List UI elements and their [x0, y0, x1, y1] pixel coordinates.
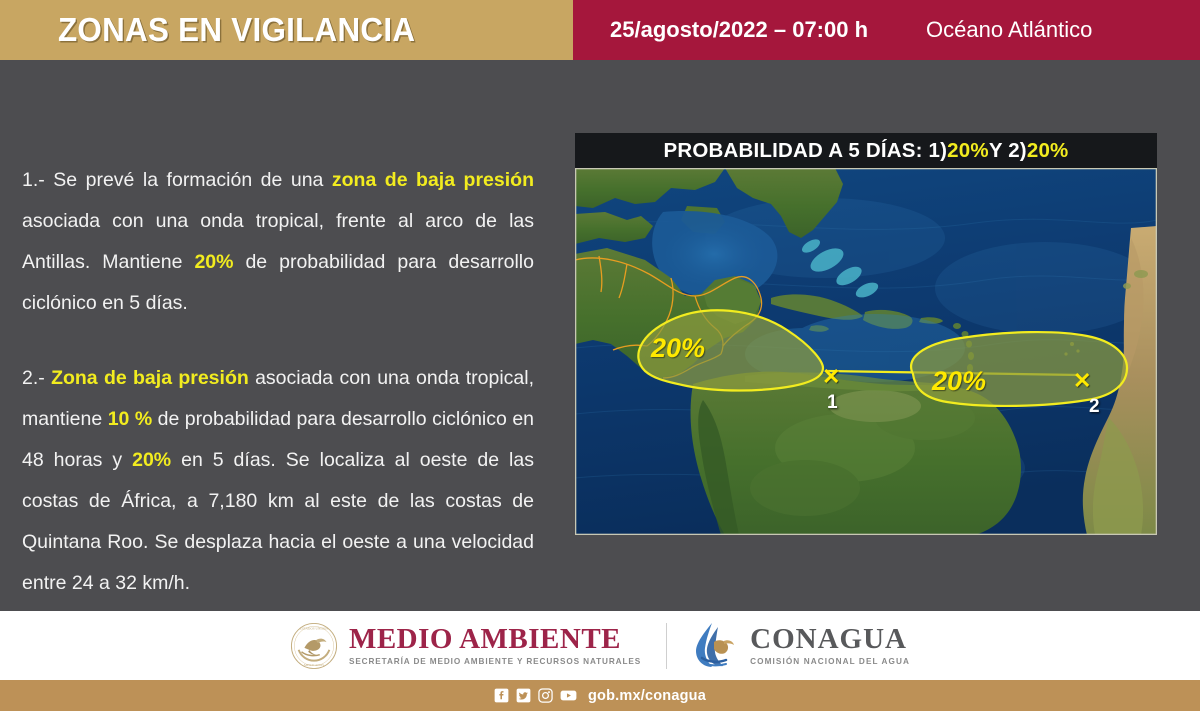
semarnat-text: MEDIO AMBIENTE SECRETARÍA DE MEDIO AMBIE…	[349, 625, 641, 666]
logo-row: ESTADOS UNIDOS MEXICANOS MEDIO AMBIENTE …	[290, 621, 910, 671]
header-info-band: 25/agosto/2022 – 07:00 h Océano Atlántic…	[573, 0, 1200, 60]
header-title-band: ZONAS EN VIGILANCIA	[0, 0, 573, 60]
page-title: ZONAS EN VIGILANCIA	[58, 11, 415, 49]
caption-prefix: PROBABILIDAD A 5 DÍAS: 1)	[664, 139, 948, 163]
conagua-subtitle: COMISIÓN NACIONAL DEL AGUA	[750, 657, 910, 666]
zone-1-number: 1	[827, 392, 838, 414]
semarnat-title: MEDIO AMBIENTE	[349, 625, 641, 655]
page-header: ZONAS EN VIGILANCIA 25/agosto/2022 – 07:…	[0, 0, 1200, 60]
satellite-basemap	[575, 168, 1157, 535]
item-2-probability-48h: 10 %	[108, 408, 153, 430]
conagua-water-drop-icon	[692, 621, 738, 671]
gobmx-url-label[interactable]: gob.mx/conagua	[588, 688, 706, 704]
report-timestamp: 25/agosto/2022 – 07:00 h	[610, 17, 868, 43]
conagua-logo: CONAGUA COMISIÓN NACIONAL DEL AGUA	[692, 621, 910, 671]
youtube-icon[interactable]	[560, 688, 577, 703]
footer-logo-band: ESTADOS UNIDOS MEXICANOS MEDIO AMBIENTE …	[0, 611, 1200, 680]
item-2-highlight-phrase: Zona de baja presión	[45, 367, 249, 389]
item-2-probability-5d: 20%	[132, 449, 171, 471]
zone-2-number: 2	[1089, 396, 1100, 418]
semarnat-logo: ESTADOS UNIDOS MEXICANOS MEDIO AMBIENTE …	[290, 622, 641, 670]
facebook-icon[interactable]	[494, 688, 509, 703]
forecast-zone-2-shape	[911, 332, 1127, 406]
item-1-number: 1.-	[22, 169, 45, 191]
item-1-text-a: Se prevé la formación de una	[45, 169, 332, 191]
report-item-2: 2.- Zona de baja presión asociada con un…	[22, 358, 534, 604]
zone-2-x-marker: ✕	[1073, 368, 1091, 394]
instagram-icon[interactable]	[538, 688, 553, 703]
svg-text:ESTADOS UNIDOS: ESTADOS UNIDOS	[300, 626, 329, 630]
twitter-icon[interactable]	[516, 688, 531, 703]
mexican-coat-of-arms-icon: ESTADOS UNIDOS MEXICANOS	[290, 622, 338, 670]
conagua-title: CONAGUA	[750, 625, 910, 655]
report-item-1: 1.- Se prevé la formación de una zona de…	[22, 160, 534, 324]
item-1-highlight-phrase: zona de baja presión	[332, 169, 534, 191]
svg-text:MEXICANOS: MEXICANOS	[304, 663, 324, 667]
caption-probability-1: 20%	[947, 139, 989, 163]
report-text-column: 1.- Se prevé la formación de una zona de…	[22, 160, 534, 604]
ocean-basin-label: Océano Atlántico	[926, 17, 1092, 43]
item-1-probability: 20%	[194, 251, 233, 273]
forecast-map-panel: PROBABILIDAD A 5 DÍAS: 1) 20% Y 2) 20%	[575, 133, 1157, 535]
footer-social-bar: gob.mx/conagua	[0, 680, 1200, 711]
caption-middle: Y 2)	[989, 139, 1027, 163]
item-2-number: 2.-	[22, 367, 45, 389]
zone-1-x-marker: ✕	[822, 364, 840, 390]
logo-divider	[666, 623, 667, 669]
map-canvas[interactable]: 20% 20% ✕ ✕ 1 2	[575, 168, 1157, 535]
social-icon-group	[494, 688, 577, 703]
conagua-text: CONAGUA COMISIÓN NACIONAL DEL AGUA	[750, 625, 910, 666]
map-caption-bar: PROBABILIDAD A 5 DÍAS: 1) 20% Y 2) 20%	[575, 133, 1157, 168]
semarnat-subtitle: SECRETARÍA DE MEDIO AMBIENTE Y RECURSOS …	[349, 657, 641, 666]
caption-probability-2: 20%	[1027, 139, 1069, 163]
